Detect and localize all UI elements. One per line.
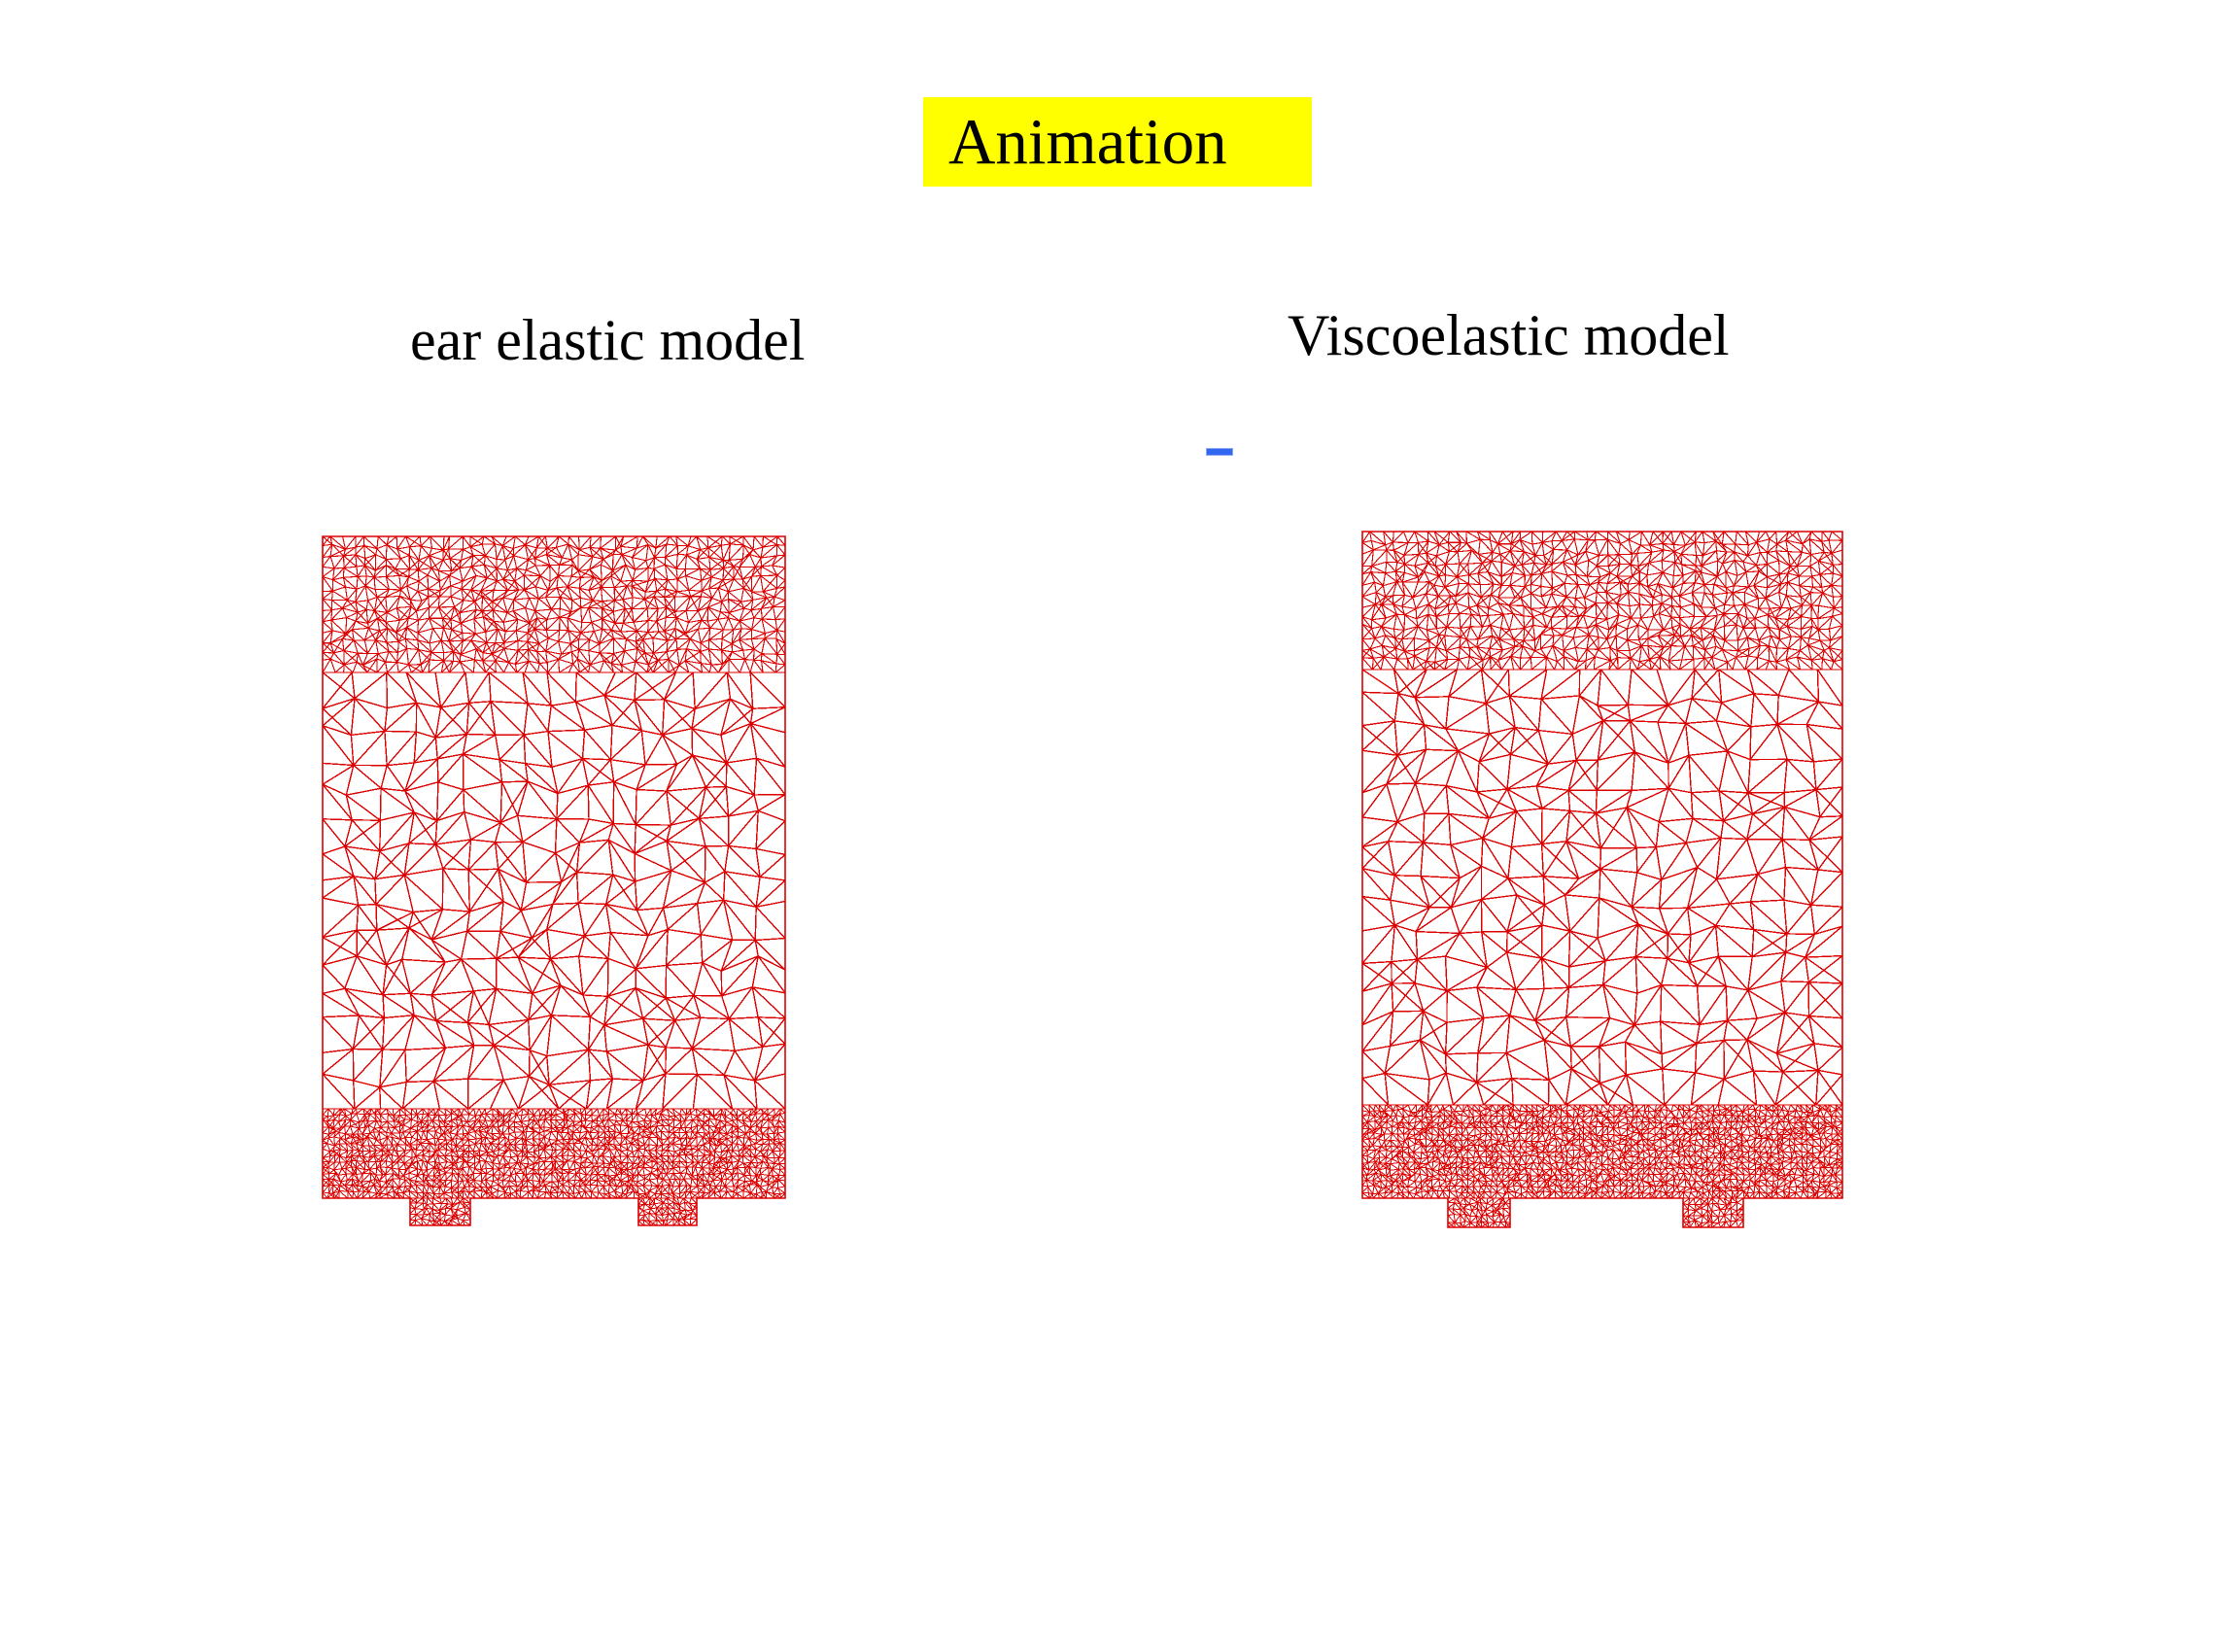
left-panel-heading: ear elastic model (410, 311, 805, 369)
right-mesh-figure (1361, 531, 1843, 1228)
page-title: Animation (923, 110, 1227, 175)
slide-canvas: Animation ear elastic model Viscoelastic… (0, 0, 2235, 1652)
right-panel-heading: Viscoelastic model (1288, 306, 1730, 364)
blue-dash-marker[interactable] (1206, 448, 1233, 456)
left-mesh-figure (322, 535, 786, 1226)
title-highlight-box: Animation (923, 97, 1312, 187)
